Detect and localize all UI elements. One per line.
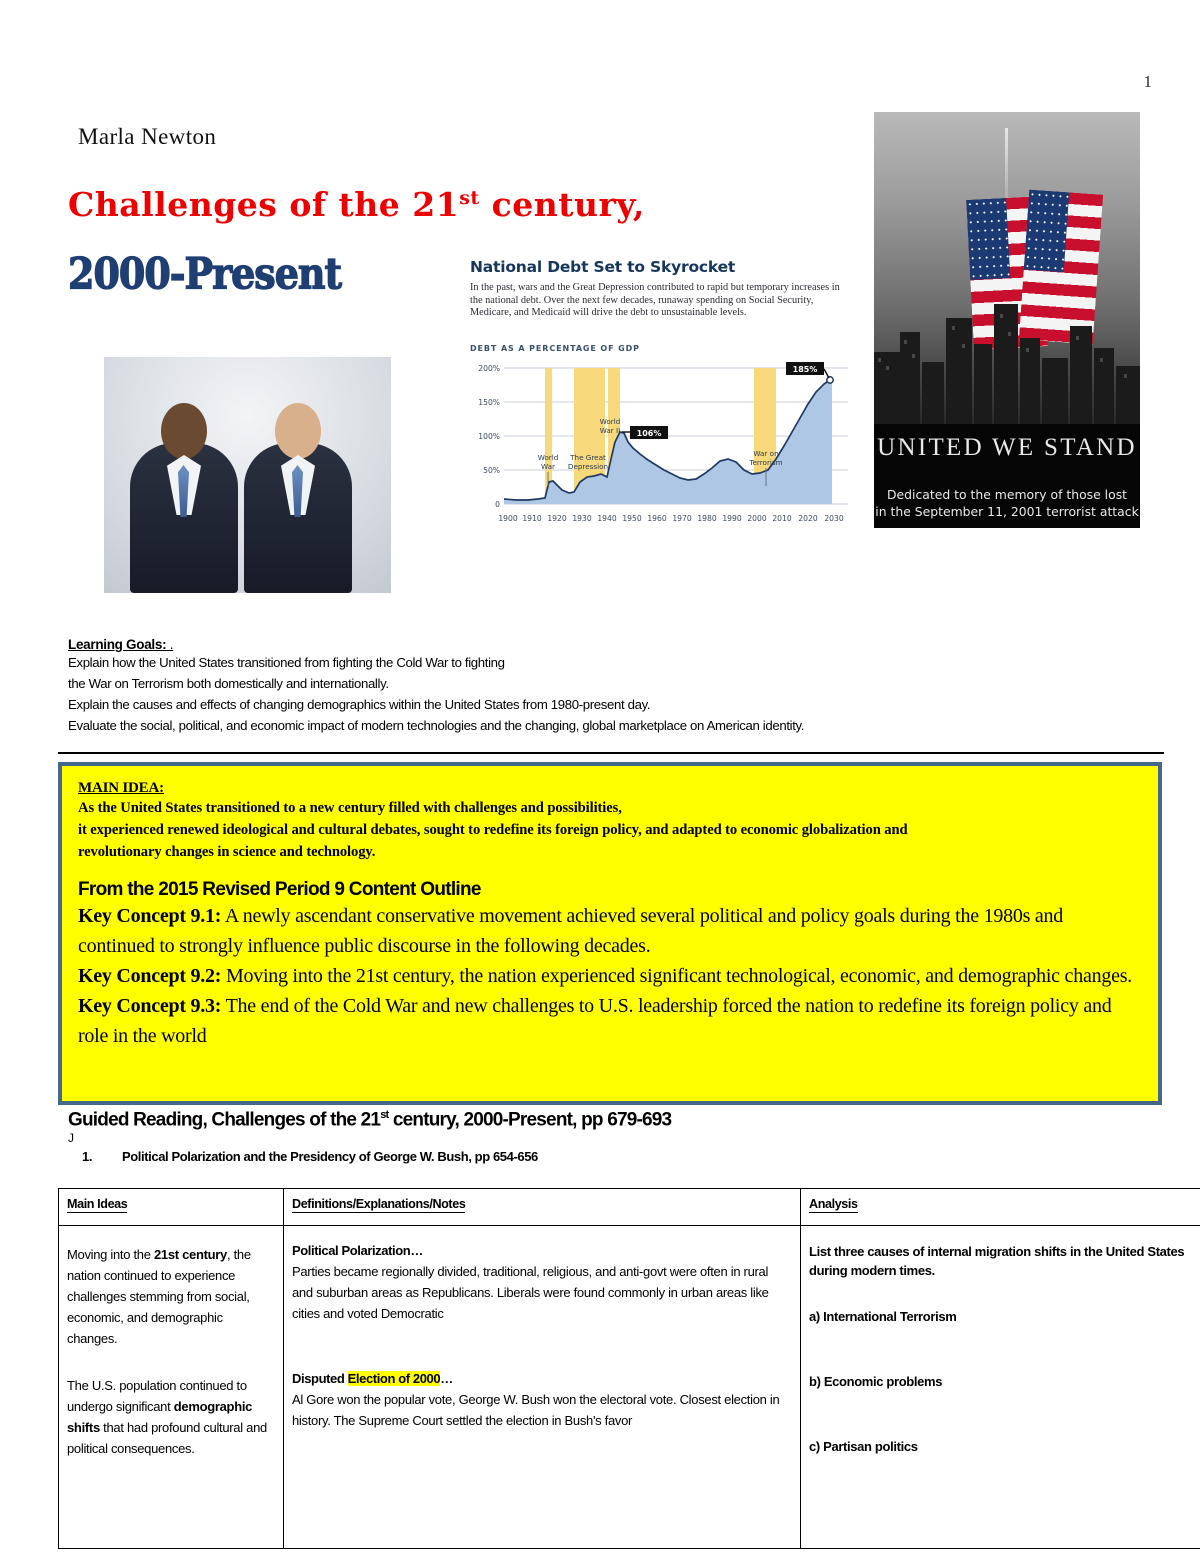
- x-tick: 1920: [547, 514, 566, 523]
- highlighted-term: Election of 2000: [348, 1371, 441, 1386]
- page-number: 1: [1144, 72, 1153, 92]
- analysis-content: List three causes of internal migration …: [809, 1232, 1200, 1457]
- learning-goals: Learning Goals: . Explain how the United…: [68, 637, 946, 736]
- notes-body-polarization: Parties became regionally divided, tradi…: [292, 1261, 792, 1324]
- svg-text:The Great: The Great: [569, 453, 606, 462]
- notes-body-election: Al Gore won the popular vote, George W. …: [292, 1389, 792, 1431]
- x-tick: 1900: [498, 514, 517, 523]
- learning-goal-line: Explain how the United States transition…: [68, 652, 946, 673]
- analysis-answer-b: b) Economic problems: [809, 1371, 1200, 1392]
- table-header-notes: Definitions/Explanations/Notes: [284, 1189, 801, 1226]
- svg-text:106%: 106%: [637, 429, 662, 438]
- x-tick: 2010: [772, 514, 791, 523]
- svg-text:200%: 200%: [478, 364, 500, 373]
- item-text: Political Polarization and the Presidenc…: [122, 1149, 538, 1164]
- poster-dedication: Dedicated to the memory of those lost in…: [874, 486, 1140, 520]
- table-header-row: Main Ideas Definitions/Explanations/Note…: [59, 1189, 1200, 1226]
- notes-subheading-election: Disputed Election of 2000…: [292, 1368, 792, 1389]
- svg-text:50%: 50%: [483, 466, 500, 475]
- header-label: Analysis: [809, 1197, 858, 1213]
- analysis-answer-a: a) International Terrorism: [809, 1306, 1200, 1327]
- notes-subheading-polarization: Political Polarization…: [292, 1240, 792, 1261]
- item-number: 1.: [82, 1149, 122, 1164]
- title-text-end: century,: [480, 185, 645, 224]
- learning-goal-line: Explain the causes and effects of changi…: [68, 694, 946, 715]
- learning-goals-heading-suffix: .: [166, 637, 173, 652]
- header-label: Definitions/Explanations/Notes: [292, 1197, 465, 1213]
- x-tick: 1980: [697, 514, 716, 523]
- svg-text:War: War: [541, 462, 555, 471]
- chart-title: National Debt Set to Skyrocket: [470, 258, 735, 276]
- learning-goals-heading-text: Learning Goals:: [68, 637, 166, 652]
- svg-text:Depression: Depression: [568, 462, 608, 471]
- author-name: Marla Newton: [78, 124, 216, 150]
- key-concept-9-3: Key Concept 9.3: The end of the Cold War…: [78, 991, 1158, 1051]
- national-debt-chart: National Debt Set to Skyrocket In the pa…: [466, 252, 854, 542]
- key-concept-text: Moving into the 21st century, the nation…: [221, 965, 1132, 987]
- svg-text:100%: 100%: [478, 432, 500, 441]
- x-tick: 1960: [647, 514, 666, 523]
- main-idea-line: it experienced renewed ideological and c…: [78, 819, 1158, 841]
- horizontal-divider: [58, 752, 1164, 754]
- chart-description: In the past, wars and the Great Depressi…: [470, 282, 842, 320]
- subheading-prefix: Disputed: [292, 1371, 348, 1386]
- content-outline-heading: From the 2015 Revised Period 9 Content O…: [78, 879, 1158, 901]
- subheading-suffix: …: [440, 1371, 453, 1386]
- svg-text:World: World: [538, 453, 559, 462]
- svg-text:0: 0: [495, 500, 500, 509]
- table-row: Moving into the 21st century, the nation…: [59, 1226, 1200, 1549]
- page-subtitle-blue: 2000-Present: [68, 248, 341, 298]
- key-concept-text: The end of the Cold War and new challeng…: [78, 995, 1112, 1047]
- x-tick: 2020: [798, 514, 817, 523]
- key-concept-9-1: Key Concept 9.1: A newly ascendant conse…: [78, 901, 1158, 961]
- chart-axis-caption: DEBT AS A PERCENTAGE OF GDP: [470, 344, 640, 353]
- table-header-analysis: Analysis: [801, 1189, 1200, 1226]
- city-skyline: [874, 274, 1140, 424]
- svg-text:185%: 185%: [793, 365, 818, 374]
- x-tick: 1910: [522, 514, 541, 523]
- x-tick: 2030: [824, 514, 843, 523]
- svg-text:World: World: [600, 417, 621, 426]
- title-superscript: st: [459, 187, 479, 209]
- main-idea-heading: MAIN IDEA:: [78, 780, 1158, 797]
- notes-content: Political Polarization… Parties became r…: [292, 1232, 792, 1431]
- cell-notes: Political Polarization… Parties became r…: [284, 1226, 801, 1549]
- analysis-answer-c: c) Partisan politics: [809, 1436, 1200, 1457]
- main-idea-bold-term: 21st century: [154, 1247, 227, 1262]
- page-title-red: Challenges of the 21st century,: [68, 185, 645, 224]
- x-tick: 1940: [597, 514, 616, 523]
- main-idea-line: revolutionary changes in science and tec…: [78, 841, 1158, 863]
- x-tick: 1930: [572, 514, 591, 523]
- guided-reading-heading-a: Guided Reading, Challenges of the 21: [68, 1109, 380, 1130]
- header-label: Main Ideas: [67, 1197, 127, 1213]
- guided-reading-item-1: 1.Political Polarization and the Preside…: [82, 1149, 538, 1164]
- photo-obama-bush: [104, 357, 391, 593]
- svg-text:Terrorism: Terrorism: [748, 458, 782, 467]
- main-idea-box: MAIN IDEA: As the United States transiti…: [58, 762, 1162, 1105]
- photo-september-11-memorial: UNITED WE STAND Dedicated to the memory …: [874, 112, 1140, 528]
- stray-character: J: [68, 1131, 74, 1145]
- key-concept-label: Key Concept 9.2:: [78, 965, 221, 987]
- svg-text:150%: 150%: [478, 398, 500, 407]
- poster-dedication-line2: in the September 11, 2001 terrorist atta…: [874, 503, 1140, 520]
- analysis-question: List three causes of internal migration …: [809, 1242, 1200, 1280]
- main-ideas-content: Moving into the 21st century, the nation…: [67, 1232, 275, 1540]
- x-tick: 1990: [722, 514, 741, 523]
- guided-reading-heading: Guided Reading, Challenges of the 21st c…: [68, 1109, 671, 1131]
- learning-goal-line: Evaluate the social, political, and econ…: [68, 715, 946, 736]
- poster-headline: UNITED WE STAND: [874, 434, 1140, 462]
- chart-plot-area: 200% 150% 100% 50% 0 Worl: [470, 360, 850, 512]
- guided-reading-heading-b: century, 2000-Present, pp 679-693: [388, 1109, 671, 1130]
- main-idea-text-part: Moving into the: [67, 1247, 154, 1262]
- svg-text:War on: War on: [753, 449, 778, 458]
- x-tick: 1970: [672, 514, 691, 523]
- x-tick: 1950: [622, 514, 641, 523]
- key-concept-text: A newly ascendant conservative movement …: [78, 905, 1063, 957]
- svg-text:War II: War II: [600, 426, 621, 435]
- main-idea-line: As the United States transitioned to a n…: [78, 797, 1158, 819]
- learning-goals-heading: Learning Goals: .: [68, 637, 946, 652]
- cell-main-ideas: Moving into the 21st century, the nation…: [59, 1226, 284, 1549]
- notes-table: Main Ideas Definitions/Explanations/Note…: [58, 1188, 1200, 1549]
- key-concept-label: Key Concept 9.3:: [78, 995, 221, 1017]
- key-concept-label: Key Concept 9.1:: [78, 905, 221, 927]
- key-concept-9-2: Key Concept 9.2: Moving into the 21st ce…: [78, 961, 1158, 991]
- chart-x-axis: 1900 1910 1920 1930 1940 1950 1960 1970 …: [470, 514, 850, 530]
- poster-dedication-line1: Dedicated to the memory of those lost: [874, 486, 1140, 503]
- table-header-main-ideas: Main Ideas: [59, 1189, 284, 1226]
- title-text: Challenges of the 21: [68, 185, 459, 224]
- x-tick: 2000: [747, 514, 766, 523]
- cell-analysis: List three causes of internal migration …: [801, 1226, 1200, 1549]
- learning-goal-line: the War on Terrorism both domestically a…: [68, 673, 946, 694]
